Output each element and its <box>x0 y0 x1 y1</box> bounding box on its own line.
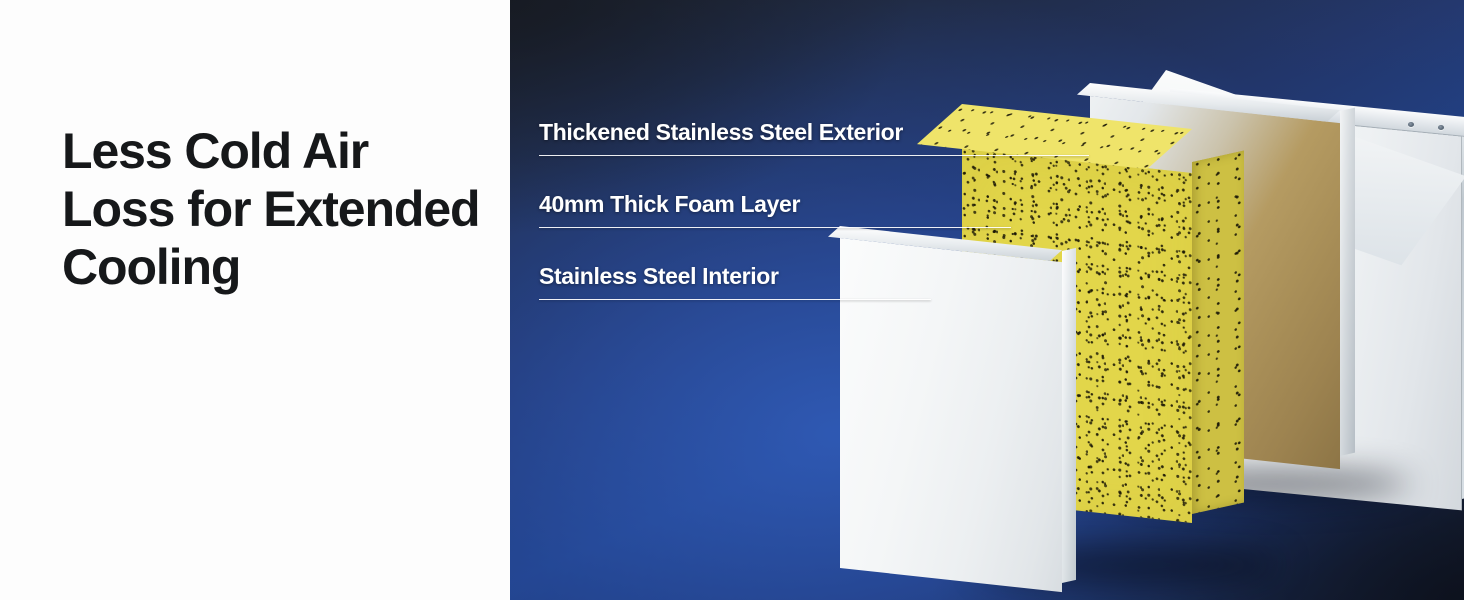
feature-callout-exterior: Thickened Stainless Steel Exterior <box>539 118 1089 156</box>
feature-callout-list: Thickened Stainless Steel Exterior 40mm … <box>539 118 1089 300</box>
headline-pane: Less Cold Air Loss for Extended Cooling <box>0 0 510 600</box>
feature-callout-interior: Stainless Steel Interior <box>539 262 1089 300</box>
feature-callout-foam: 40mm Thick Foam Layer <box>539 190 1089 228</box>
exterior-panel-right-edge <box>1340 108 1355 456</box>
feature-label-interior: Stainless Steel Interior <box>539 262 1089 290</box>
feature-label-exterior: Thickened Stainless Steel Exterior <box>539 118 1089 146</box>
foam-panel-right-edge <box>1192 150 1244 514</box>
feature-underline-interior <box>539 299 931 300</box>
feature-underline-foam <box>539 227 1011 228</box>
rivet-icon <box>1438 125 1444 130</box>
feature-underline-exterior <box>539 155 1089 156</box>
page-title: Less Cold Air Loss for Extended Cooling <box>62 122 482 296</box>
rivet-icon <box>1408 122 1414 127</box>
product-feature-banner: Less Cold Air Loss for Extended Cooling <box>0 0 1464 600</box>
product-showcase-pane: Thickened Stainless Steel Exterior 40mm … <box>510 0 1464 600</box>
feature-label-foam: 40mm Thick Foam Layer <box>539 190 1089 218</box>
